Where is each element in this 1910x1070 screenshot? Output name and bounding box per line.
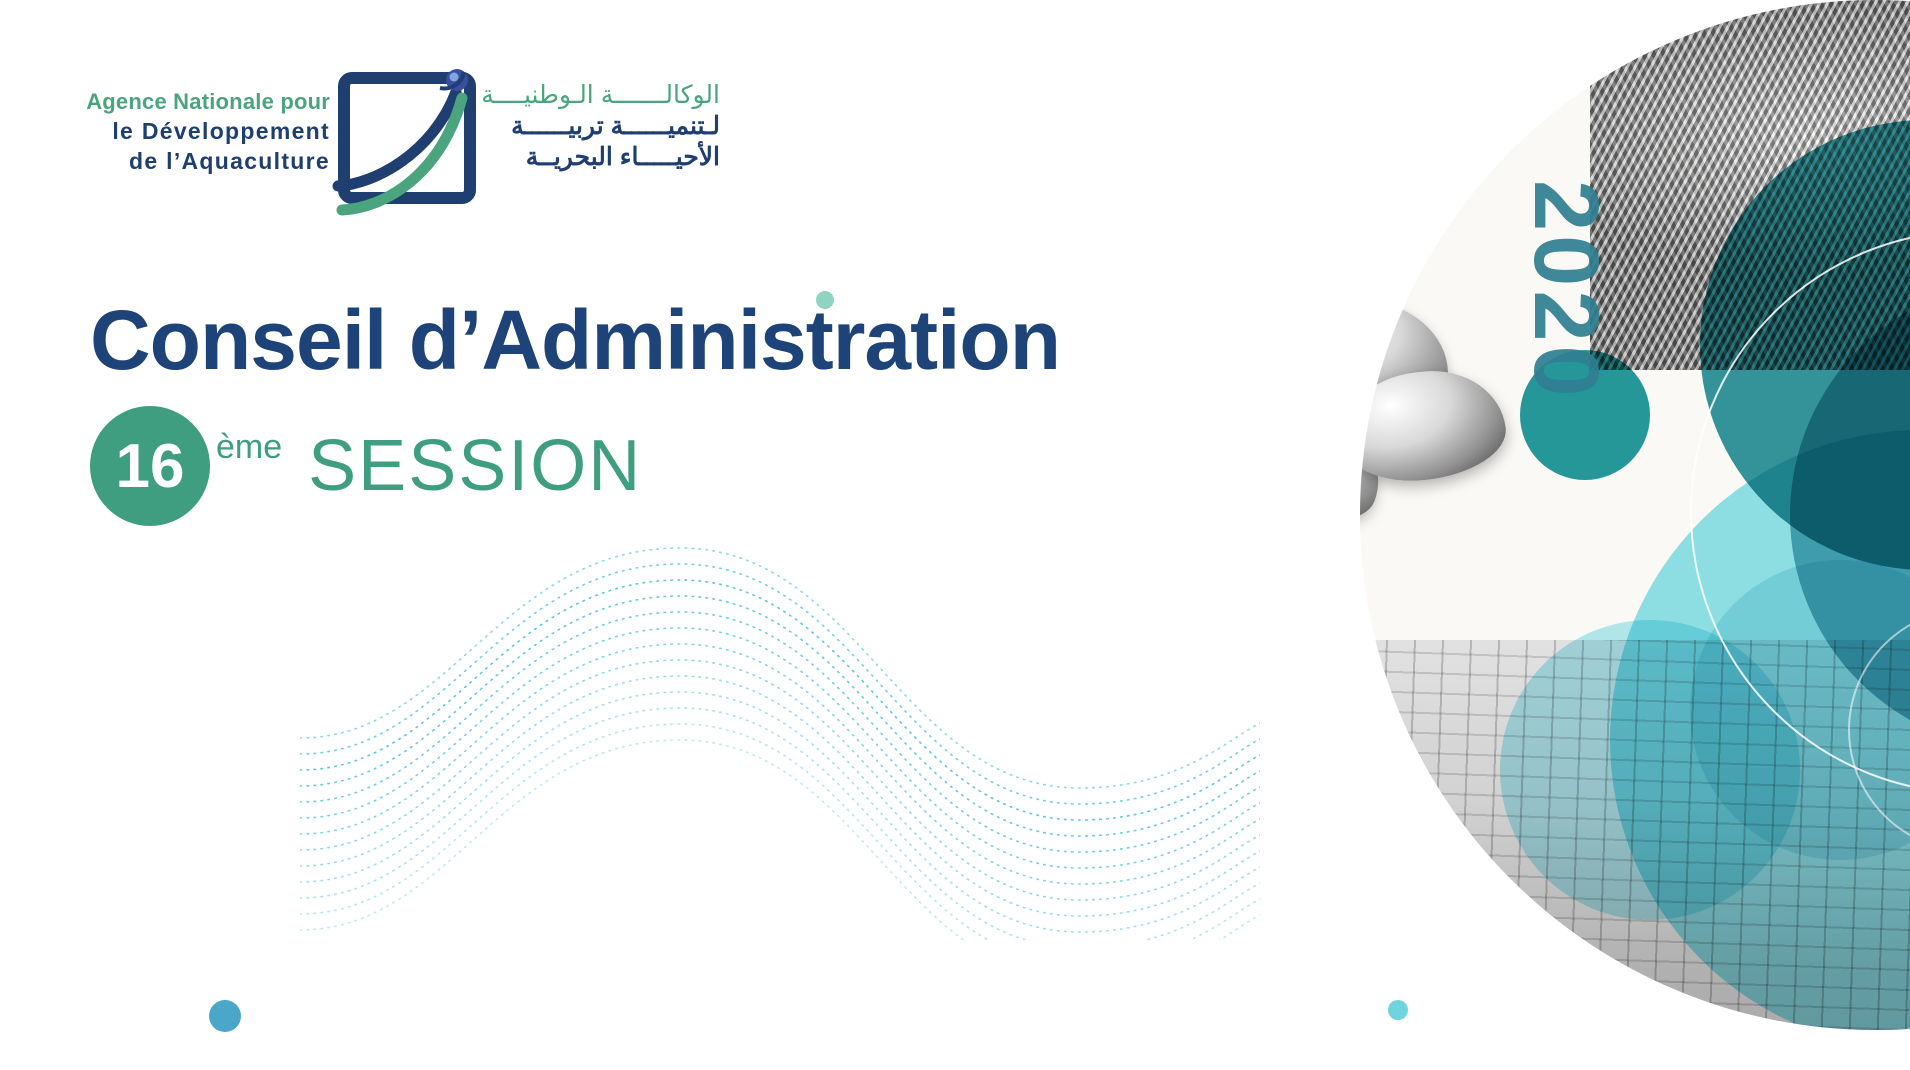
session-number-badge: 16 [90,406,210,526]
logo-arabic-line-1: الوكالـــــــة الـوطنيــــة [480,80,720,111]
collage-clip-circle [1360,0,1910,1030]
dotted-wave-lines [300,520,1260,940]
page-title: Conseil d’Administration [90,292,1060,388]
clam-shells-photo [1360,300,1510,530]
logo-arabic-text: الوكالـــــــة الـوطنيــــة لـتنميــــــ… [480,80,720,173]
decor-dot-cyan [1388,1000,1408,1020]
year-label: 2020 [1498,180,1618,401]
decor-dot-teal [816,291,834,309]
session-ordinal-suffix: ème [216,428,282,467]
session-row: 16 ème SESSION [90,406,1060,526]
logo-french-text: Agence Nationale pour le Développement d… [80,88,330,176]
logo-arabic-line-2: لـتنميــــــة تربيــــــة [480,111,720,142]
headline-block: Conseil d’Administration 16 ème SESSION [90,292,1060,526]
clam-shell [1360,364,1510,489]
logo-line-3: de l’Aquaculture [80,146,330,176]
logo-line-2: le Développement [80,116,330,146]
decor-dot-blue [209,1000,241,1032]
fish-in-square-logomark [328,58,488,220]
poster-canvas: 2020 Agence Nationale pour le Développem… [0,0,1910,1070]
logo-arabic-line-3: الأحيـــــاء البحريــة [480,142,720,173]
anda-logo: Agence Nationale pour le Développement d… [80,58,720,223]
logo-line-1: Agence Nationale pour [80,88,330,116]
session-label: SESSION [308,425,642,507]
